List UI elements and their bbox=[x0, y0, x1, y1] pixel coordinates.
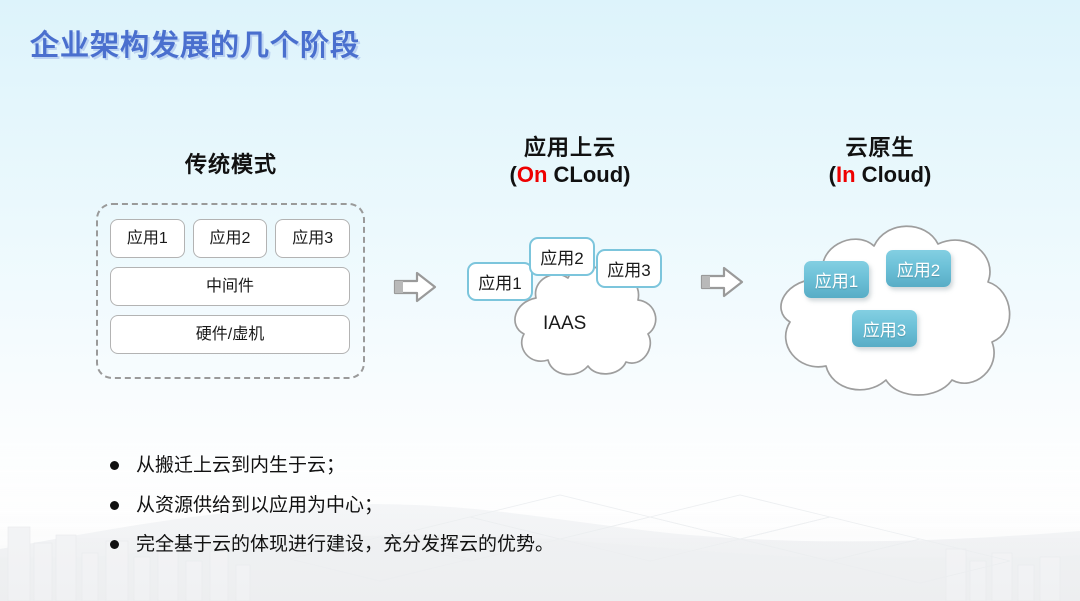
oncloud-app-box-1[interactable]: 应用1 bbox=[467, 262, 533, 301]
bullet-list: 从搬迁上云到内生于云； 从资源供给到以应用为中心； 完全基于云的体现进行建设，充… bbox=[110, 453, 810, 572]
right-arrow-icon-2 bbox=[700, 265, 744, 299]
traditional-infrastructure-box[interactable]: 硬件/虚机 bbox=[110, 315, 350, 354]
section-heading-oncloud-cn: 应用上云 bbox=[455, 135, 685, 162]
section-heading-traditional-cn: 传统模式 bbox=[96, 152, 366, 179]
oncloud-paren-open: ( bbox=[510, 162, 517, 187]
iaas-cloud-label: IAAS bbox=[543, 313, 586, 335]
section-heading-cloudnative-cn: 云原生 bbox=[765, 135, 995, 162]
cloudnative-app-box-3[interactable]: 应用3 bbox=[852, 310, 917, 347]
traditional-app-box-1[interactable]: 应用1 bbox=[110, 219, 185, 258]
traditional-app-row: 应用1 应用2 应用3 bbox=[110, 219, 350, 258]
traditional-app-box-3[interactable]: 应用3 bbox=[275, 219, 350, 258]
bullet-text-2: 从资源供给到以应用为中心； bbox=[136, 493, 383, 519]
cloudnative-rest: Cloud) bbox=[856, 162, 932, 187]
cloudnative-app-box-2[interactable]: 应用2 bbox=[886, 250, 951, 287]
oncloud-app-box-2[interactable]: 应用2 bbox=[529, 237, 595, 276]
bullet-text-1: 从搬迁上云到内生于云； bbox=[136, 453, 345, 479]
slide-canvas: 企业架构发展的几个阶段 传统模式 应用1 应用2 应用3 中间件 硬件/虚机 应… bbox=[0, 0, 1080, 601]
oncloud-highlight-word: On bbox=[517, 162, 548, 187]
bullet-item-2: 从资源供给到以应用为中心； bbox=[110, 493, 810, 519]
cloudnative-highlight-word: In bbox=[836, 162, 856, 187]
cloudnative-app-box-1[interactable]: 应用1 bbox=[804, 261, 869, 298]
section-heading-oncloud: 应用上云 (On CLoud) bbox=[455, 135, 685, 189]
bullet-dot-icon bbox=[110, 461, 119, 470]
traditional-stack: 应用1 应用2 应用3 中间件 硬件/虚机 bbox=[110, 219, 350, 363]
section-heading-cloudnative: 云原生 (In Cloud) bbox=[765, 135, 995, 189]
bullet-item-1: 从搬迁上云到内生于云； bbox=[110, 453, 810, 479]
bullet-item-3: 完全基于云的体现进行建设，充分发挥云的优势。 bbox=[110, 532, 810, 558]
bullet-dot-icon bbox=[110, 501, 119, 510]
oncloud-rest: CLoud) bbox=[547, 162, 630, 187]
traditional-middleware-box[interactable]: 中间件 bbox=[110, 267, 350, 306]
section-heading-oncloud-en: (On CLoud) bbox=[455, 162, 685, 189]
page-title: 企业架构发展的几个阶段 bbox=[30, 22, 360, 64]
bullet-text-3: 完全基于云的体现进行建设，充分发挥云的优势。 bbox=[136, 532, 554, 558]
bullet-dot-icon bbox=[110, 540, 119, 549]
section-heading-traditional: 传统模式 bbox=[96, 152, 366, 179]
cloudnative-paren-open: ( bbox=[829, 162, 836, 187]
section-heading-cloudnative-en: (In Cloud) bbox=[765, 162, 995, 189]
cloudnative-cloud-shape bbox=[762, 218, 1020, 398]
oncloud-app-box-3[interactable]: 应用3 bbox=[596, 249, 662, 288]
right-arrow-icon-1 bbox=[393, 270, 437, 304]
traditional-app-box-2[interactable]: 应用2 bbox=[193, 219, 268, 258]
